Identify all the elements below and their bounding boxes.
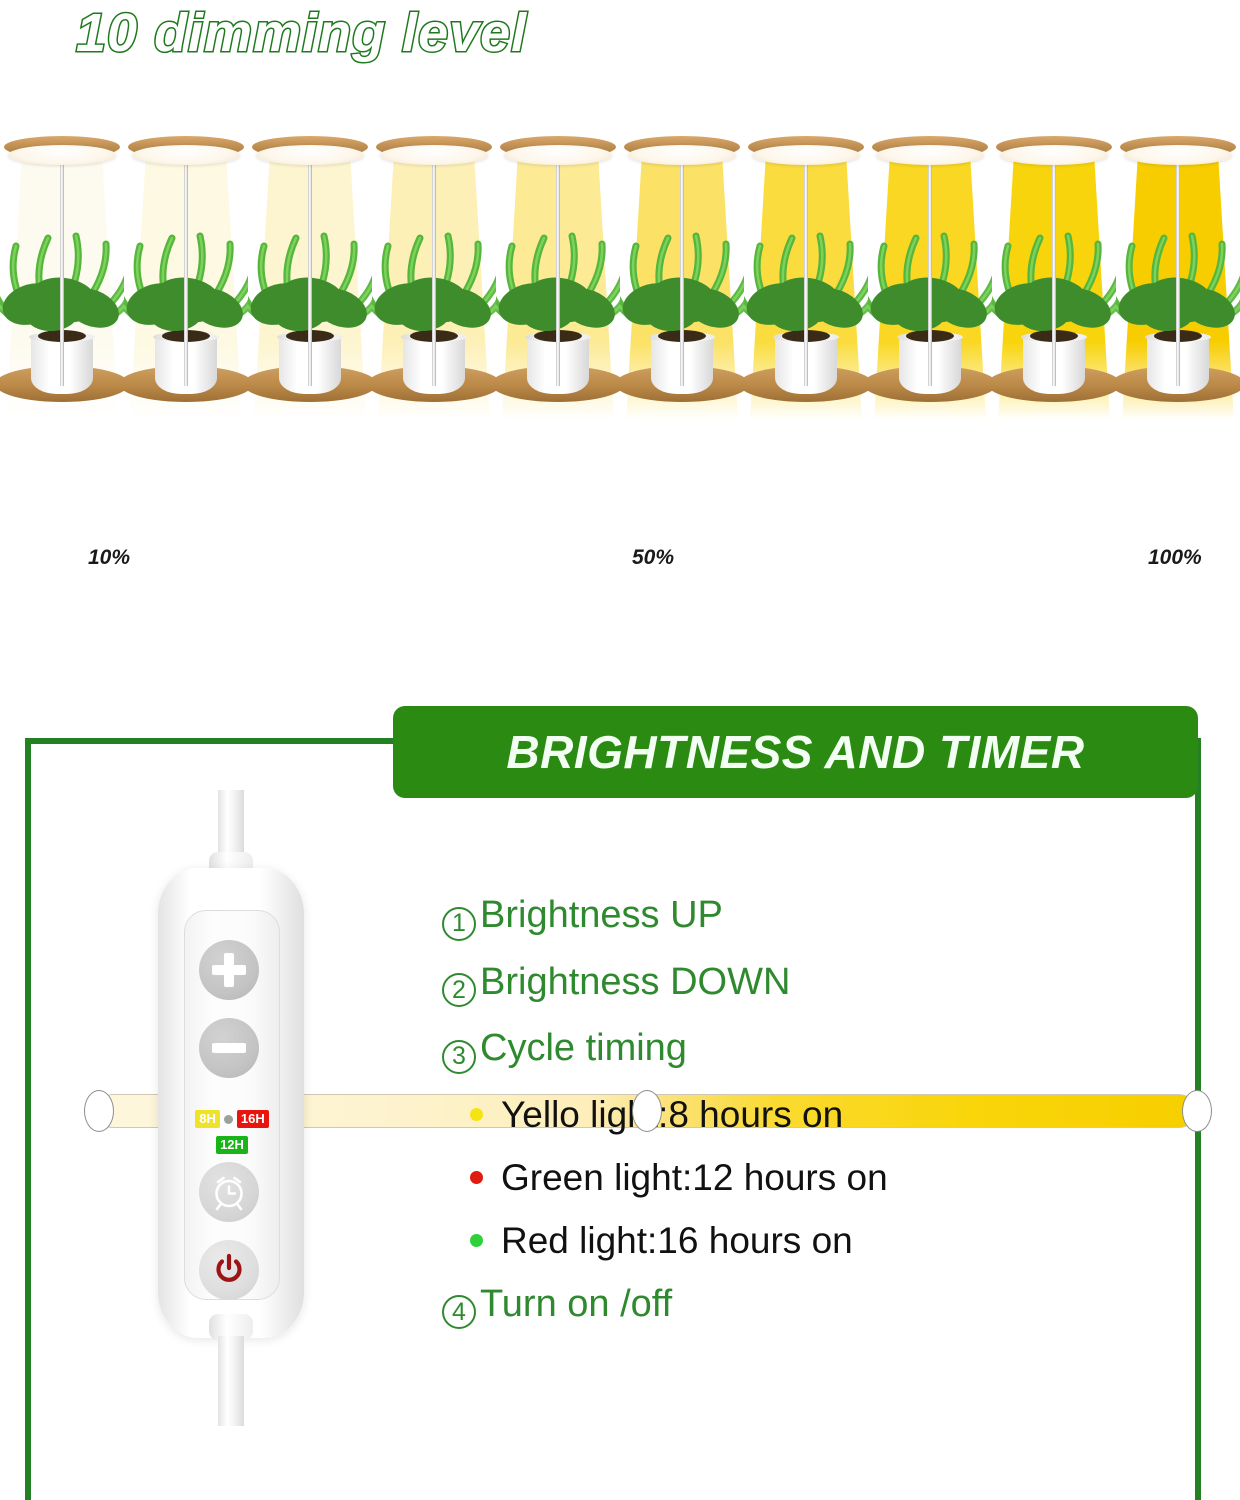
brightness-down-button[interactable] [199,1018,259,1078]
grow-light-unit [248,128,372,420]
slider-tick-label: 10% [88,546,130,570]
instruction-number: 1 [442,907,476,941]
light-pole [60,154,64,386]
instruction-label: Cycle timing [480,1029,687,1067]
instruction-sub-item: Yello light:8 hours on [470,1096,1182,1133]
grow-light-unit [372,128,496,420]
timer-badge-8h: 8H [195,1110,220,1128]
light-pole [1052,154,1056,386]
timer-indicator-row: 8H 16H [184,1108,280,1130]
lamp-head [500,136,616,166]
instruction-number: 4 [442,1295,476,1329]
instruction-sub-item: Red light:16 hours on [470,1222,1182,1259]
lamp-head [4,136,120,166]
light-pole [804,154,808,386]
lamp-diffuser [8,145,116,165]
instruction-label: Turn on /off [480,1285,672,1323]
lamp-diffuser [504,145,612,165]
grow-light-unit [124,128,248,420]
timer-badge-16h: 16H [237,1110,269,1128]
banner-title: BRIGHTNESS AND TIMER [506,725,1084,779]
status-led-icon [224,1115,233,1124]
instruction-sub-label: Red light:16 hours on [501,1222,853,1259]
light-pole [184,154,188,386]
light-pole [556,154,560,386]
timer-badge-12h: 12H [216,1136,248,1154]
brightness-up-button[interactable] [199,940,259,1000]
section-banner: BRIGHTNESS AND TIMER [393,706,1198,798]
bullet-dot-icon [470,1171,483,1184]
inline-controller: 8H 16H 12H [140,790,330,1420]
slider-tick-label: 100% [1148,546,1202,570]
grow-light-unit [620,128,744,420]
instruction-sub-label: Yello light:8 hours on [501,1096,843,1133]
grow-light-unit [992,128,1116,420]
lamp-diffuser [628,145,736,165]
grow-light-array [0,128,1240,420]
light-pole [1176,154,1180,386]
page-title: 10 dimming level [76,2,527,64]
light-pole [432,154,436,386]
power-icon [212,1253,246,1287]
power-cable-bottom [218,1336,244,1426]
light-pole [928,154,932,386]
lamp-head [376,136,492,166]
instruction-label: Brightness DOWN [480,963,790,1001]
grow-light-unit [1116,128,1240,420]
instruction-item: 3Cycle timing [442,1029,1182,1070]
lamp-diffuser [1124,145,1232,165]
lamp-head [128,136,244,166]
grow-light-unit [744,128,868,420]
instruction-label: Brightness UP [480,896,723,934]
lamp-diffuser [256,145,364,165]
light-pole [680,154,684,386]
grow-light-unit [496,128,620,420]
lamp-head [996,136,1112,166]
lamp-diffuser [380,145,488,165]
alarm-clock-icon [209,1172,249,1212]
light-pole [308,154,312,386]
instruction-sub-label: Green light:12 hours on [501,1159,888,1196]
instruction-item: 4Turn on /off [442,1285,1182,1326]
power-button[interactable] [199,1240,259,1300]
lamp-head [1120,136,1236,166]
instruction-list: 1Brightness UP2Brightness DOWN3Cycle tim… [442,896,1182,1351]
dimming-slider[interactable]: 10%50%100% [0,520,1240,640]
slider-tick-label: 50% [632,546,674,570]
minus-icon [212,1031,246,1065]
infographic-page: 10 dimming level 10%50%100% BRIGHTNESS A… [0,0,1240,1500]
lamp-head [252,136,368,166]
instruction-sub-item: Green light:12 hours on [470,1159,1182,1196]
instruction-number: 2 [442,973,476,1007]
plus-icon [212,953,246,987]
lamp-diffuser [1000,145,1108,165]
lamp-head [624,136,740,166]
grow-light-unit [868,128,992,420]
timer-indicator-row-secondary: 12H [184,1134,280,1156]
bullet-dot-icon [470,1108,483,1121]
lamp-diffuser [132,145,240,165]
slider-handle[interactable] [632,1090,662,1132]
slider-handle[interactable] [1182,1090,1212,1132]
bullet-dot-icon [470,1234,483,1247]
slider-handle[interactable] [84,1090,114,1132]
grow-light-unit [0,128,124,420]
lamp-head [872,136,988,166]
lamp-diffuser [876,145,984,165]
instruction-number: 3 [442,1040,476,1074]
instruction-item: 1Brightness UP [442,896,1182,937]
instruction-item: 2Brightness DOWN [442,963,1182,1004]
cycle-timing-button[interactable] [199,1162,259,1222]
lamp-head [748,136,864,166]
lamp-diffuser [752,145,860,165]
